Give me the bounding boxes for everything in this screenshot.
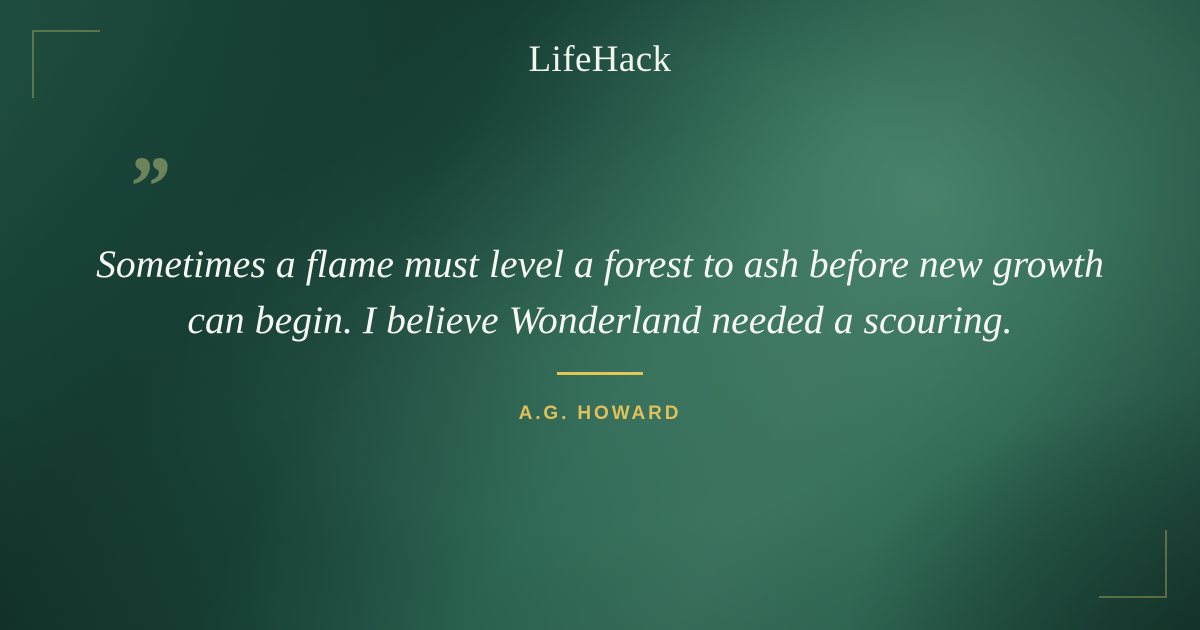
quotation-mark-icon: ” [126, 143, 169, 229]
quote-block: Sometimes a flame must level a forest to… [86, 236, 1114, 348]
attribution-divider [557, 372, 643, 375]
quote-card: LifeHack ” Sometimes a flame must level … [0, 0, 1200, 630]
quote-text: Sometimes a flame must level a forest to… [86, 236, 1114, 348]
corner-bracket-bottom-right-icon [1099, 530, 1167, 598]
attribution-block: A.G. HOWARD [0, 372, 1200, 425]
quote-author: A.G. HOWARD [0, 403, 1200, 425]
brand-logo: LifeHack [0, 40, 1200, 81]
